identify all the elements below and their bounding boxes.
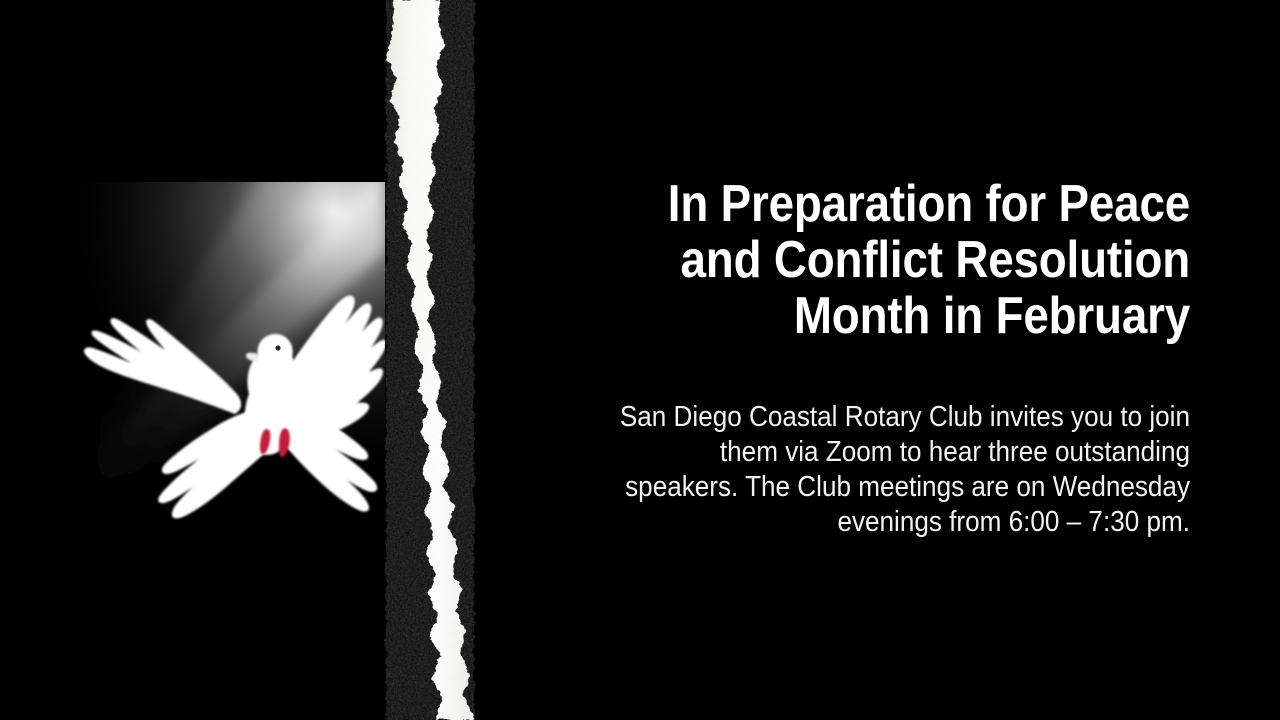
dove-photo-graphic (13, 182, 385, 547)
torn-strip-texture (386, 0, 474, 720)
body-paragraph: San Diego Coastal Rotary Club invites yo… (605, 400, 1190, 540)
page-title: In Preparation for Peace and Conflict Re… (618, 176, 1190, 344)
dove-eye (275, 345, 280, 350)
text-column: In Preparation for Peace and Conflict Re… (540, 0, 1190, 720)
torn-paper-divider (370, 0, 510, 720)
torn-paper-graphic (370, 0, 510, 720)
torn-strip-shape (386, 0, 474, 720)
dove-photo (13, 182, 385, 547)
slide-canvas: In Preparation for Peace and Conflict Re… (0, 0, 1280, 720)
